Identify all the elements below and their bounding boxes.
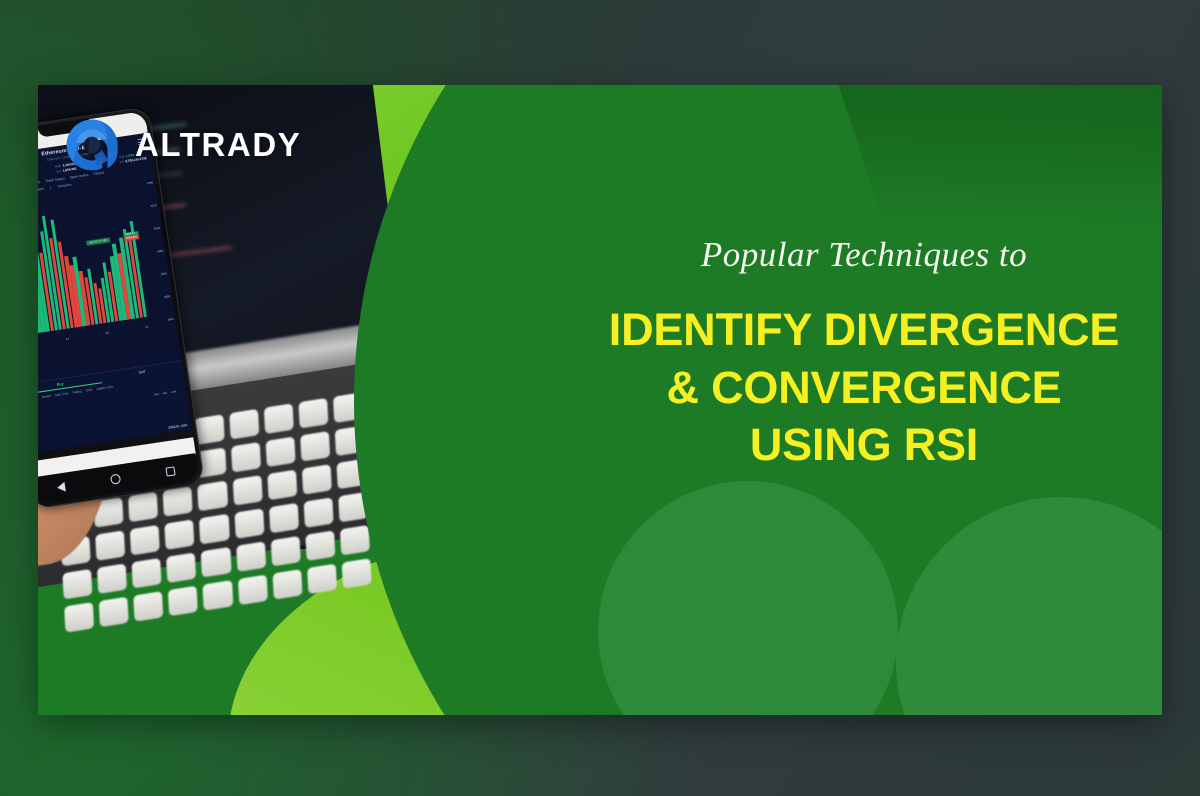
order-type-ladder-limit[interactable]: Ladder Limit	[96, 385, 113, 392]
current-price-tags: 2094.21 2064.828	[123, 231, 139, 242]
eyebrow-text: Popular Techniques to	[604, 235, 1124, 275]
col-ask[interactable]: Ask	[162, 391, 167, 396]
candlestick-series	[38, 194, 147, 335]
price-currency: USD	[180, 423, 187, 428]
brand-name: ALTRADY	[135, 126, 301, 164]
x-tick: 14	[145, 324, 149, 328]
headline-line-1: IDENTIFY DIVERGENCE	[604, 301, 1124, 359]
y-tick: 1880	[164, 294, 171, 299]
stat-label: Low	[55, 169, 61, 174]
order-type-oco[interactable]: OCO	[85, 388, 93, 394]
page-backdrop: Ethereum USD-ETH Ethereum / United State…	[0, 0, 1200, 796]
triangle-back-icon[interactable]	[56, 482, 65, 493]
altrady-circle-logo-icon	[64, 117, 120, 173]
circle-home-icon[interactable]	[110, 473, 121, 484]
y-tick: 2160	[147, 180, 154, 185]
col-last[interactable]: Last	[171, 389, 177, 394]
x-tick: 18	[105, 330, 109, 334]
price-columns[interactable]: Bid Ask Last	[149, 389, 181, 398]
order-type-trailing[interactable]: Trailing	[72, 389, 82, 395]
order-type-market[interactable]: Market	[42, 394, 52, 400]
y-tick: 1960	[157, 248, 164, 253]
col-bid[interactable]: Bid	[154, 392, 159, 397]
indicators-icon[interactable]: ƒ	[50, 185, 52, 189]
headline: IDENTIFY DIVERGENCE & CONVERGENCE USING …	[604, 301, 1124, 474]
price-input[interactable]: 2066.81 USD	[168, 423, 188, 430]
banner-card: Ethereum USD-ETH Ethereum / United State…	[38, 85, 1162, 715]
price-value: 2066.81	[168, 424, 180, 430]
price-chart[interactable]: ✛ ◈ ⋀ ≡ ◷ ✎ ⚙	[38, 178, 177, 353]
y-tick: 2120	[150, 203, 157, 208]
y-tick: 2000	[153, 225, 160, 230]
y-tick: 1840	[167, 316, 174, 321]
headline-line-3: USING RSI	[604, 416, 1124, 474]
order-type-stop-limit[interactable]: Stop Limit	[55, 391, 69, 398]
brand-lockup[interactable]: ALTRADY	[64, 117, 301, 173]
square-recents-icon[interactable]	[165, 466, 175, 476]
x-tick: 14	[66, 336, 70, 340]
headline-line-2: & CONVERGENCE	[604, 359, 1124, 417]
banner-copy: Popular Techniques to IDENTIFY DIVERGENC…	[604, 235, 1124, 474]
y-tick: 1920	[160, 271, 167, 276]
